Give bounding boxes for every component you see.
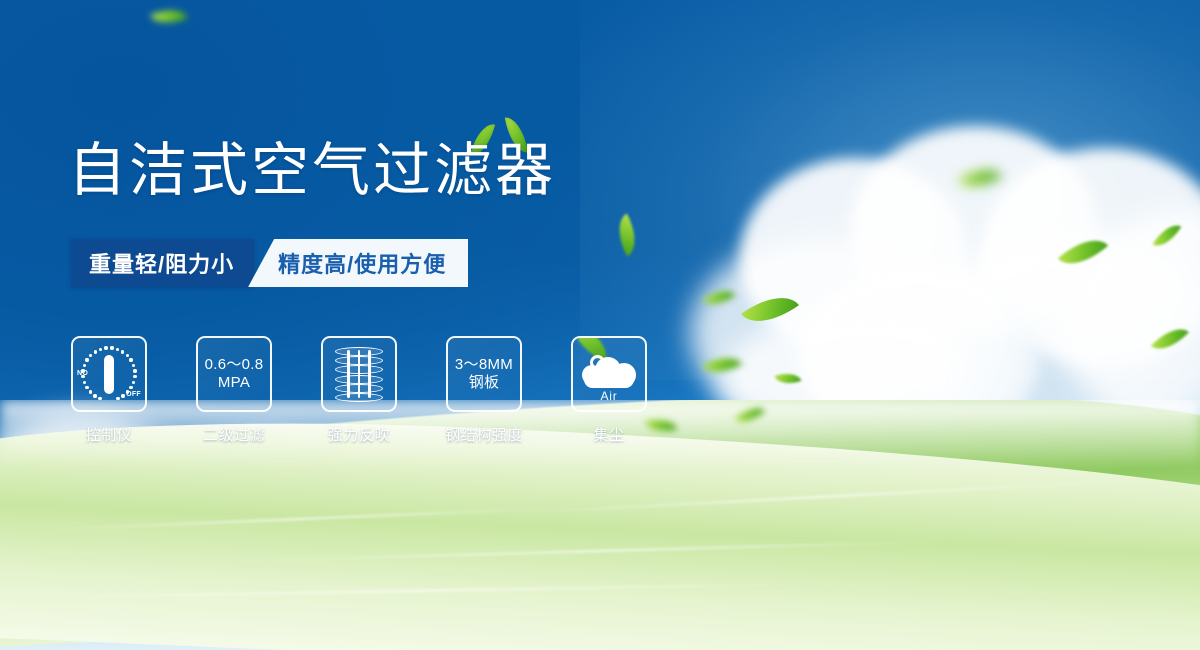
- steel-line-1: 3～8MM: [455, 356, 513, 374]
- gauge-tick: [126, 354, 129, 357]
- product-banner: 自洁式空气过滤器 重量轻/阻力小 精度高/使用方便 NO OFF 控制仪: [0, 0, 1200, 650]
- gauge-tick: [116, 397, 119, 400]
- pressure-value-icon: 0.6～0.8 MPA: [196, 336, 272, 412]
- gauge-tick: [129, 358, 132, 361]
- feature-item-steel-strength[interactable]: 3～8MM 钢板 钢结构强度: [446, 336, 522, 445]
- gauge-tick: [133, 375, 136, 378]
- gauge-tick: [121, 350, 124, 353]
- gauge-tick: [85, 358, 88, 361]
- subtitle-left-panel: 重量轻/阻力小: [71, 239, 254, 287]
- gauge-tick: [132, 381, 135, 384]
- air-cloud-icon: Air: [571, 336, 647, 412]
- feature-item-filter-stage[interactable]: 0.6～0.8 MPA 二级过滤: [196, 336, 272, 445]
- feature-item-backblow[interactable]: 强力反吹: [321, 336, 397, 445]
- feature-label: 控制仪: [86, 424, 133, 445]
- feature-item-controller[interactable]: NO OFF 控制仪: [71, 336, 147, 445]
- gauge-tick: [81, 369, 84, 372]
- gauge-tick: [89, 354, 92, 357]
- gauge-tick: [85, 386, 88, 389]
- cartridge-ring: [335, 347, 383, 356]
- gauge-tick: [110, 346, 113, 349]
- feature-label: 钢结构强度: [445, 424, 523, 445]
- cartridge-ring: [335, 365, 383, 374]
- feature-item-dust-collect[interactable]: Air 集尘: [571, 336, 647, 445]
- feature-label: 强力反吹: [328, 424, 390, 445]
- gauge-tick: [129, 386, 132, 389]
- gauge-tick: [104, 346, 107, 349]
- steel-plate-icon: 3～8MM 钢板: [446, 336, 522, 412]
- subtitle-right-panel: 精度高/使用方便: [248, 239, 468, 287]
- gauge-tick: [99, 348, 102, 351]
- cartridge-ring: [335, 375, 383, 384]
- gauge-tick: [98, 397, 101, 400]
- page-title: 自洁式空气过滤器: [68, 140, 556, 203]
- gauge-tick: [83, 381, 86, 384]
- feature-list: NO OFF 控制仪 0.6～0.8 MPA 二级过滤: [71, 336, 647, 445]
- gauge-tick: [83, 364, 86, 367]
- cartridge-ring: [335, 356, 383, 365]
- air-label: Air: [579, 389, 639, 403]
- cartridge-ring: [335, 393, 383, 402]
- gauge-tick: [81, 375, 84, 378]
- pressure-line-1: 0.6～0.8: [205, 356, 264, 374]
- gauge-tick: [116, 348, 119, 351]
- gauge-tick: [132, 364, 135, 367]
- filter-cartridge-icon: [321, 336, 397, 412]
- gauge-tick: [94, 350, 97, 353]
- gauge-tick: [133, 369, 136, 372]
- subtitle-strip: 重量轻/阻力小 精度高/使用方便: [71, 239, 468, 287]
- feature-label: 集尘: [593, 424, 624, 445]
- cartridge-ring: [335, 384, 383, 393]
- gauge-tick: [93, 394, 96, 397]
- gauge-tick: [121, 394, 124, 397]
- gauge-dial-icon: NO OFF: [71, 336, 147, 412]
- gauge-tick: [89, 390, 92, 393]
- pressure-line-2: MPA: [218, 374, 250, 392]
- feature-label: 二级过滤: [203, 424, 265, 445]
- steel-line-2: 钢板: [469, 374, 500, 392]
